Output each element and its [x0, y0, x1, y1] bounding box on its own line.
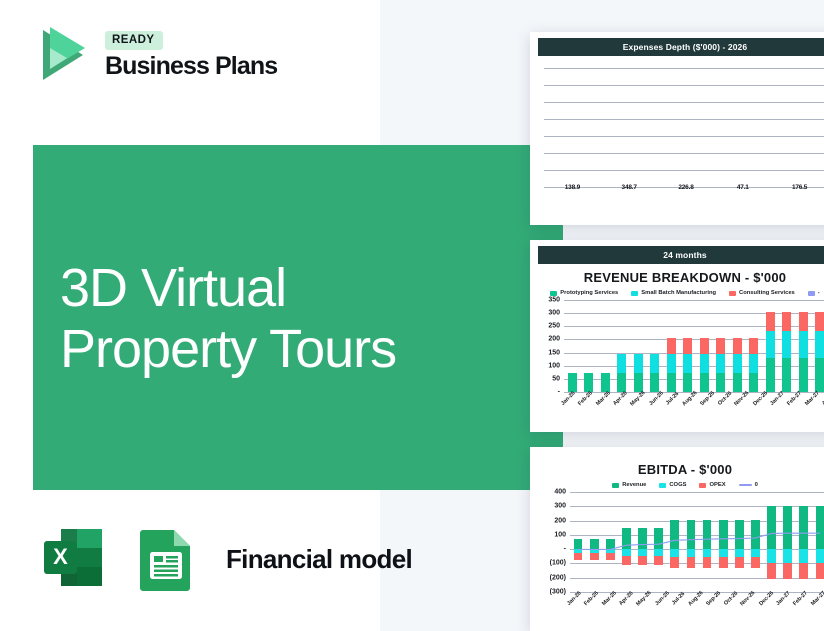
- footer-row: X Financial model: [36, 521, 412, 597]
- y-axis-tick: 150: [548, 349, 560, 356]
- y-axis-tick: 400: [554, 489, 566, 496]
- bar-segment: [650, 354, 659, 373]
- bar-column[interactable]: [647, 354, 664, 392]
- legend-item[interactable]: Consulting Services: [729, 290, 795, 296]
- legend-swatch: [699, 483, 706, 488]
- bar-segment: [683, 338, 692, 354]
- y-axis-tick: 300: [554, 503, 566, 510]
- legend-item[interactable]: 0: [739, 482, 758, 488]
- bar-column[interactable]: 348.7: [601, 184, 658, 193]
- svg-text:X: X: [53, 544, 68, 569]
- y-axis-tick: (100): [550, 560, 566, 567]
- y-axis-tick: -: [564, 546, 566, 553]
- legend-swatch: [729, 291, 736, 296]
- bar-value-label: 47.1: [737, 184, 749, 191]
- bar-segment: [733, 354, 742, 373]
- brand-lockup: READY Business Plans: [33, 24, 277, 86]
- bar-segment: [716, 338, 725, 354]
- bar-segment: [766, 331, 775, 358]
- legend-swatch: [612, 483, 619, 488]
- bar-segment: [716, 354, 725, 373]
- legend-swatch: [659, 483, 666, 488]
- y-axis-tick: (300): [550, 589, 566, 596]
- bar-segment: [700, 338, 709, 354]
- bar-segment: [782, 312, 791, 331]
- revenue-x-axis-labels: Jan-26Feb-26Mar-26Apr-26May-26Jun-26Jul-…: [564, 394, 824, 412]
- bar-segment: [617, 373, 626, 392]
- brand-text: READY Business Plans: [105, 31, 277, 78]
- bar-value-label: 138.9: [565, 184, 580, 191]
- chart-card-expenses[interactable]: Expenses Depth ($'000) - 2026 138.9348.7…: [530, 32, 824, 225]
- y-axis-tick: 100: [548, 362, 560, 369]
- y-axis-tick: 200: [548, 336, 560, 343]
- stacked-bar[interactable]: [601, 373, 610, 392]
- stacked-bar[interactable]: [634, 354, 643, 392]
- stacked-bar[interactable]: [716, 338, 725, 392]
- bar-column[interactable]: [696, 338, 713, 392]
- bar-column[interactable]: [746, 338, 763, 392]
- stacked-bar[interactable]: [584, 373, 593, 392]
- bar-segment: [766, 358, 775, 392]
- bar-segment: [733, 373, 742, 392]
- bar-column[interactable]: [581, 373, 598, 392]
- bar-column[interactable]: [663, 338, 680, 392]
- legend-item[interactable]: Prototyping Services: [550, 290, 618, 296]
- stacked-bar[interactable]: [650, 354, 659, 392]
- bar-segment: [667, 354, 676, 373]
- y-axis-tick: 50: [552, 375, 560, 382]
- legend-label: Small Batch Manufacturing: [641, 290, 716, 296]
- revenue-bars: [564, 300, 824, 392]
- bar-column[interactable]: 138.9: [544, 184, 601, 193]
- bar-segment: [799, 358, 808, 392]
- bar-segment: [799, 312, 808, 331]
- legend-label: OPEX: [709, 482, 725, 488]
- y-axis-tick: 350: [548, 297, 560, 304]
- bar-value-label: 348.7: [622, 184, 637, 191]
- brand-name: Business Plans: [105, 54, 277, 79]
- stacked-bar[interactable]: [568, 373, 577, 392]
- bar-column[interactable]: [762, 312, 779, 392]
- legend-item[interactable]: Revenue: [612, 482, 646, 488]
- bar-column[interactable]: [564, 373, 581, 392]
- bar-column[interactable]: [779, 312, 796, 392]
- ebitda-chart-title: EBITDA - $'000: [538, 462, 824, 477]
- bar-segment: [749, 338, 758, 354]
- y-axis-tick: -: [558, 389, 560, 396]
- bar-column[interactable]: [614, 354, 631, 392]
- bar-segment: [617, 354, 626, 373]
- stacked-bar[interactable]: [766, 312, 775, 392]
- legend-swatch: [550, 291, 557, 296]
- bar-segment: [584, 373, 593, 392]
- bar-segment: [749, 373, 758, 392]
- expenses-bars: 138.9348.7226.847.1176.5: [544, 65, 824, 193]
- legend-item[interactable]: Small Batch Manufacturing: [631, 290, 716, 296]
- bar-segment: [815, 331, 824, 358]
- revenue-chart-title: REVENUE BREAKDOWN - $'000: [538, 270, 824, 285]
- legend-label: 0: [755, 482, 758, 488]
- legend-swatch: [808, 291, 815, 296]
- bar-column[interactable]: [597, 373, 614, 392]
- bar-column[interactable]: [630, 354, 647, 392]
- bar-segment: [667, 373, 676, 392]
- legend-label: Prototyping Services: [560, 290, 618, 296]
- microsoft-excel-icon: X: [36, 521, 112, 597]
- bar-segment: [683, 354, 692, 373]
- bar-value-label: 226.8: [678, 184, 693, 191]
- stacked-bar[interactable]: [749, 338, 758, 392]
- y-axis-tick: 100: [554, 531, 566, 538]
- y-axis-tick: 300: [548, 310, 560, 317]
- bar-value-label: 176.5: [792, 184, 807, 191]
- y-axis-tick: (200): [550, 574, 566, 581]
- google-sheets-icon: [128, 521, 204, 597]
- revenue-chart-header: 24 months: [538, 246, 824, 264]
- legend-item[interactable]: -: [808, 290, 820, 296]
- bar-segment: [766, 312, 775, 331]
- chart-card-revenue[interactable]: 24 months REVENUE BREAKDOWN - $'000 Prot…: [530, 240, 824, 432]
- bar-column[interactable]: 47.1: [714, 184, 771, 193]
- bar-column[interactable]: [812, 312, 824, 392]
- bar-segment: [650, 373, 659, 392]
- bar-segment: [700, 354, 709, 373]
- bar-segment: [815, 358, 824, 392]
- bar-segment: [634, 354, 643, 373]
- stacked-bar[interactable]: [799, 312, 808, 392]
- stacked-bar[interactable]: [683, 338, 692, 392]
- x-axis-tick: Mar-27: [810, 590, 824, 615]
- y-axis-tick: 200: [554, 517, 566, 524]
- bar-column[interactable]: [729, 338, 746, 392]
- stacked-bar[interactable]: [667, 338, 676, 392]
- bar-segment: [733, 338, 742, 354]
- expenses-chart-header: Expenses Depth ($'000) - 2026: [538, 38, 824, 56]
- ebitda-plot-area: 400300200100-(100)(200)(300): [570, 492, 824, 592]
- ebitda-x-axis-labels: Jan-26Feb-26Mar-26Apr-26May-26Jun-26Jul-…: [570, 594, 824, 612]
- bar-column[interactable]: [713, 338, 730, 392]
- stacked-bar[interactable]: [782, 312, 791, 392]
- zero-line-path: [578, 533, 820, 549]
- bar-segment: [568, 373, 577, 392]
- page-title: 3D Virtual Property Tours: [60, 258, 396, 380]
- legend-swatch: [739, 484, 752, 486]
- legend-label: Consulting Services: [739, 290, 795, 296]
- bar-segment: [782, 358, 791, 392]
- bar-segment: [749, 354, 758, 373]
- bar-segment: [634, 373, 643, 392]
- legend-label: -: [818, 290, 820, 296]
- legend-label: Revenue: [622, 482, 646, 488]
- revenue-legend: Prototyping ServicesSmall Batch Manufact…: [538, 290, 824, 296]
- stacked-bar[interactable]: [700, 338, 709, 392]
- revenue-plot-area: 35030025020015010050-: [564, 300, 824, 392]
- bar-segment: [601, 373, 610, 392]
- bar-segment: [782, 331, 791, 358]
- stacked-bar[interactable]: [815, 312, 824, 392]
- ebitda-zero-line-series: [570, 492, 824, 592]
- footer-label: Financial model: [226, 544, 412, 575]
- bar-segment: [799, 331, 808, 358]
- bar-column[interactable]: 176.5: [771, 184, 824, 193]
- stacked-bar[interactable]: [617, 354, 626, 392]
- ebitda-legend: RevenueCOGSOPEX0: [538, 482, 824, 488]
- bar-column[interactable]: 226.8: [658, 184, 715, 193]
- legend-item[interactable]: COGS: [659, 482, 686, 488]
- bar-column[interactable]: [795, 312, 812, 392]
- chart-card-ebitda[interactable]: EBITDA - $'000 RevenueCOGSOPEX0 40030020…: [530, 447, 824, 631]
- play-triangle-logo-icon: [33, 24, 91, 86]
- bar-segment: [700, 373, 709, 392]
- bar-segment: [815, 312, 824, 331]
- y-axis-tick: 250: [548, 323, 560, 330]
- legend-item[interactable]: OPEX: [699, 482, 725, 488]
- bar-segment: [667, 338, 676, 354]
- legend-label: COGS: [669, 482, 686, 488]
- expenses-plot-area: 138.9348.7226.847.1176.5: [544, 65, 824, 193]
- bar-column[interactable]: [680, 338, 697, 392]
- ready-badge: READY: [105, 31, 163, 49]
- legend-swatch: [631, 291, 638, 296]
- bar-segment: [716, 373, 725, 392]
- stacked-bar[interactable]: [733, 338, 742, 392]
- bar-segment: [683, 373, 692, 392]
